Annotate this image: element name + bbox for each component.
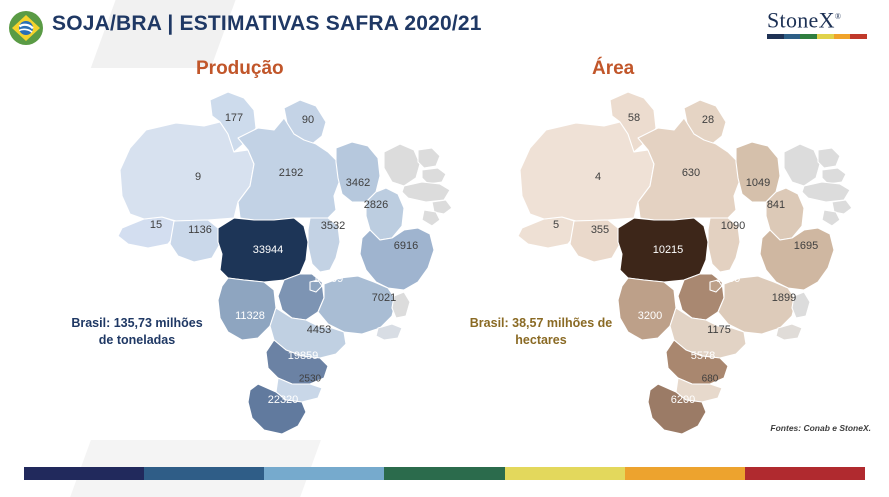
state-ac [518, 217, 576, 248]
state-to [308, 218, 340, 272]
state-rn [418, 148, 440, 168]
logo-bar-seg-3 [800, 34, 817, 39]
stripe-segment-2 [144, 467, 264, 480]
total-producao: Brasil: 135,73 milhões de toneladas [62, 315, 212, 349]
sources-note: Fontes: Conab e StoneX. [770, 423, 871, 433]
stripe-segment-4 [384, 467, 504, 480]
total-area: Brasil: 38,57 milhões de hectares [466, 315, 616, 349]
state-es [392, 292, 410, 318]
header: SOJA/BRA | ESTIMATIVAS SAFRA 2020/21 Sto… [0, 0, 889, 48]
logo-bar-seg-4 [817, 34, 834, 39]
total-area-line2: hectares [515, 333, 566, 347]
stripe-segment-6 [625, 467, 745, 480]
state-pb [822, 168, 846, 184]
state-to [708, 218, 740, 272]
logo-bar-seg-5 [834, 34, 851, 39]
stonex-wordmark-text: StoneX [767, 7, 835, 32]
total-producao-line1: Brasil: 135,73 milhões [71, 316, 202, 330]
state-pb [422, 168, 446, 184]
state-pa [238, 118, 340, 220]
state-rn [818, 148, 840, 168]
state-ma [736, 142, 780, 202]
page-title: SOJA/BRA | ESTIMATIVAS SAFRA 2020/21 [52, 12, 482, 36]
stripe-segment-3 [264, 467, 384, 480]
brazil-flag-icon [8, 10, 44, 46]
state-ro [570, 220, 620, 262]
state-ma [336, 142, 380, 202]
trademark-symbol: ® [835, 12, 841, 21]
stripe-segment-1 [24, 467, 144, 480]
state-mt [218, 218, 308, 282]
choropleth-map-producao: 1779092192346228261511363394435326916113… [88, 78, 458, 438]
state-es [792, 292, 810, 318]
slide-root: SOJA/BRA | ESTIMATIVAS SAFRA 2020/21 Sto… [0, 0, 889, 497]
state-ac [118, 217, 176, 248]
panel-title-area: Área [592, 58, 634, 80]
panel-title-producao: Produção [196, 58, 284, 80]
state-ro [170, 220, 220, 262]
bottom-color-stripe [24, 467, 865, 480]
state-ms [218, 278, 276, 340]
stonex-logo: StoneX® [767, 6, 871, 42]
state-pe [402, 182, 450, 202]
state-pa [638, 118, 740, 220]
state-ce [784, 144, 820, 186]
total-producao-line2: de toneladas [99, 333, 175, 347]
state-ms [618, 278, 676, 340]
stripe-segment-5 [505, 467, 625, 480]
state-mt [618, 218, 708, 282]
state-ce [384, 144, 420, 186]
logo-bar-seg-2 [784, 34, 801, 39]
total-area-line1: Brasil: 38,57 milhões de [470, 316, 612, 330]
stonex-wordmark: StoneX® [767, 6, 871, 31]
logo-bar-seg-1 [767, 34, 784, 39]
state-pe [802, 182, 850, 202]
logo-bar-seg-6 [850, 34, 867, 39]
logo-color-bar [767, 34, 867, 39]
choropleth-map-area: 5828463010498415355102151090169532003780… [488, 78, 858, 438]
stripe-segment-7 [745, 467, 865, 480]
